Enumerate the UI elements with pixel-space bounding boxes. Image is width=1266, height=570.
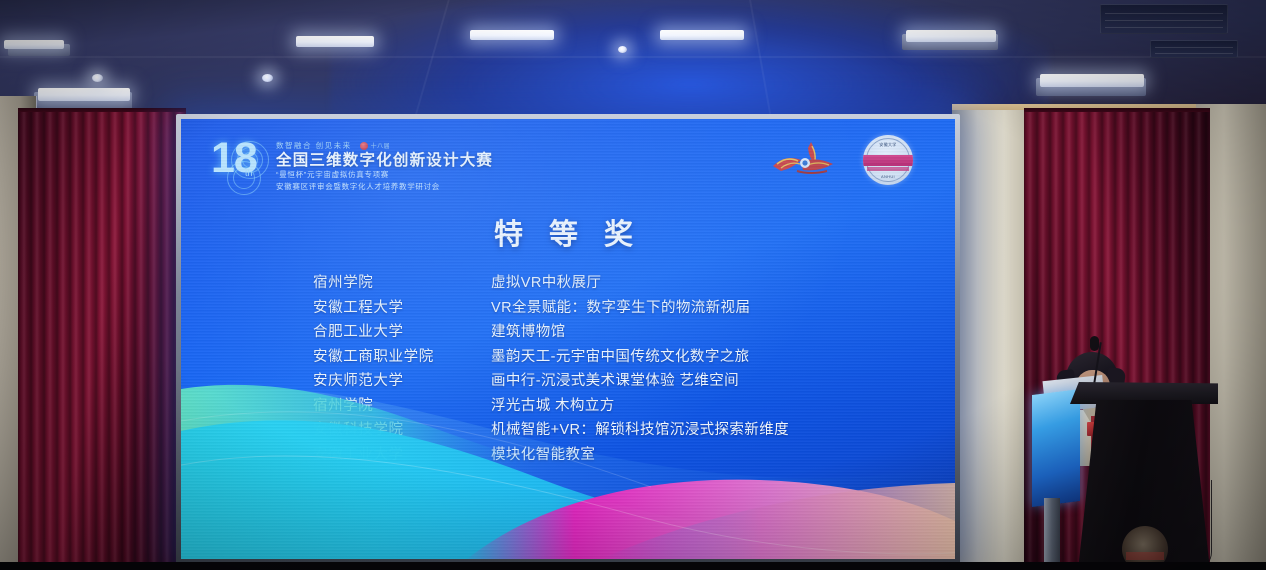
microphone-icon: [1090, 336, 1099, 351]
competition-logo: 18 th 数智融合 创见未来 十八届 全国三维数字化创新设计大赛 “曼恒杯”元…: [211, 135, 493, 197]
led-screen-bezel: 18 th 数智融合 创见未来 十八届 全国三维数字化创新设计大赛 “曼恒杯”元…: [176, 114, 960, 566]
ceiling-blue-glow: [330, 0, 1050, 124]
list-item: 合肥工业大学 建筑博物馆: [313, 320, 915, 341]
project-name: 虚拟VR中秋展厅: [491, 271, 601, 292]
award-category-title: 特 等 奖: [181, 211, 955, 253]
sponsor-logos: 安徽大学 ANHUI: [771, 135, 913, 185]
school-name: 宿州学院: [313, 271, 491, 292]
university-seal-icon: 安徽大学 ANHUI: [863, 135, 913, 185]
podium-monitor: [1032, 389, 1080, 507]
red-wing-emblem-icon: [771, 140, 841, 180]
presentation-slide: 18 th 数智融合 创见未来 十八届 全国三维数字化创新设计大赛 “曼恒杯”元…: [181, 119, 955, 559]
air-vent: [1150, 40, 1238, 58]
ceiling-light-panel: [4, 40, 64, 49]
logo-badge: 十八届: [360, 141, 391, 150]
project-name: 墨韵天工-元宇宙中国传统文化数字之旅: [491, 345, 750, 366]
seal-bottom-text: ANHUI: [863, 174, 913, 179]
project-name: 建筑博物馆: [491, 320, 566, 341]
logo-text-stack: 数智融合 创见未来 十八届 全国三维数字化创新设计大赛 “曼恒杯”元宇宙虚拟仿真…: [276, 140, 493, 192]
ceiling-light-panel: [470, 30, 554, 40]
seal-band-secondary: [867, 167, 909, 171]
edition-ordinal: th: [245, 168, 253, 178]
ceiling-spotlight: [92, 74, 103, 82]
logo-tagline-row: 数智融合 创见未来 十八届: [276, 140, 493, 151]
list-item: 宿州学院 虚拟VR中秋展厅: [313, 271, 915, 292]
school-name: 合肥工业大学: [313, 320, 491, 341]
seal-top-text: 安徽大学: [863, 142, 913, 148]
ceiling-light-panel: [1040, 74, 1144, 87]
competition-subtitle-1: “曼恒杯”元宇宙虚拟仿真专项赛: [276, 169, 493, 180]
list-item: 安徽工商职业学院 墨韵天工-元宇宙中国传统文化数字之旅: [313, 345, 915, 366]
competition-subtitle-2: 安徽赛区评审会暨数字化人才培养教学研讨会: [276, 181, 493, 192]
conference-hall-photo: 18 th 数智融合 创见未来 十八届 全国三维数字化创新设计大赛 “曼恒杯”元…: [0, 0, 1266, 570]
ceiling-beam: [0, 56, 1266, 58]
floor-shadow: [0, 562, 1266, 570]
school-name: 安徽工程大学: [313, 296, 491, 317]
competition-title: 全国三维数字化创新设计大赛: [276, 152, 493, 169]
ceiling-light-panel: [906, 30, 996, 42]
logo-badge-text: 十八届: [371, 141, 391, 150]
logo-tagline: 数智融合 创见未来: [276, 140, 352, 151]
air-vent: [1100, 4, 1228, 34]
edition-number-logo: 18 th: [211, 135, 269, 197]
podium: [1026, 330, 1216, 570]
ceiling-light-panel: [296, 36, 374, 47]
ceiling-spotlight: [618, 46, 627, 53]
project-name: VR全景赋能：数字孪生下的物流新视届: [491, 296, 750, 317]
slide-wave-decoration: [181, 369, 955, 559]
podium-monitor-stem: [1044, 498, 1060, 564]
ceiling-spotlight: [262, 74, 273, 82]
ceiling-light-panel: [660, 30, 744, 40]
school-name: 安徽工商职业学院: [313, 345, 491, 366]
list-item: 安徽工程大学 VR全景赋能：数字孪生下的物流新视届: [313, 296, 915, 317]
podium-cable: [1194, 480, 1212, 570]
red-dot-icon: [360, 142, 368, 150]
stage-curtain-left: [18, 112, 186, 570]
seal-band: [863, 155, 913, 166]
